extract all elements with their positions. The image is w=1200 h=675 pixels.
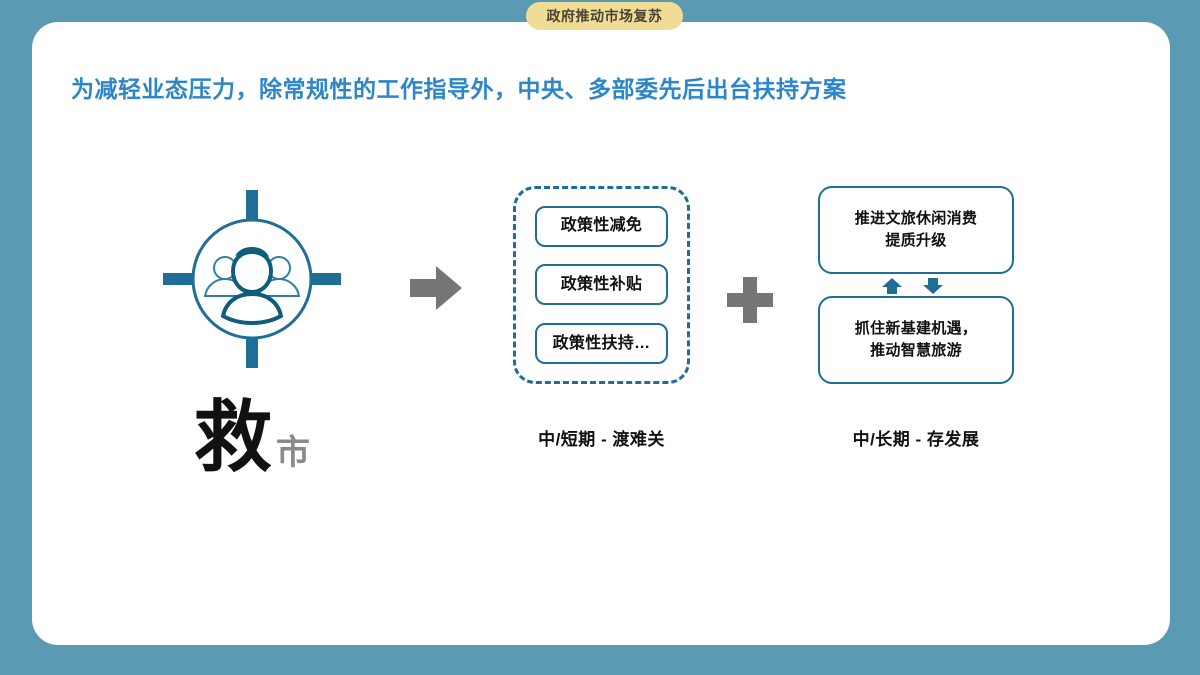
longterm-box-2-line2: 推动智慧旅游 bbox=[870, 340, 962, 363]
longterm-box-2[interactable]: 抓住新基建机遇， 推动智慧旅游 bbox=[818, 296, 1014, 384]
keyword-block: 救 市 bbox=[163, 378, 341, 474]
up-down-arrows-icon bbox=[880, 276, 952, 296]
policy-box-1[interactable]: 政策性减免 bbox=[535, 206, 668, 247]
midterm-caption: 中/短期 - 渡难关 bbox=[513, 425, 690, 450]
longterm-box-2-line1: 抓住新基建机遇， bbox=[855, 318, 977, 341]
midterm-policy-group: 政策性减免 政策性补贴 政策性扶持… bbox=[513, 186, 690, 384]
up-down-arrows-svg bbox=[880, 276, 952, 296]
longterm-caption: 中/长期 - 存发展 bbox=[818, 425, 1014, 450]
policy-box-2[interactable]: 政策性补贴 bbox=[535, 264, 668, 305]
right-arrow-svg bbox=[406, 258, 466, 318]
longterm-group: 推进文旅休闲消费 提质升级 抓住新基建机遇， 推动智慧旅游 bbox=[818, 186, 1014, 384]
target-people-svg bbox=[163, 190, 341, 368]
page-title: 为减轻业态压力，除常规性的工作指导外，中央、多部委先后出台扶持方案 bbox=[71, 70, 847, 104]
right-arrow-icon bbox=[406, 258, 466, 318]
section-banner-label: 政府推动市场复苏 bbox=[547, 9, 663, 23]
longterm-box-1-line2: 提质升级 bbox=[885, 230, 946, 253]
longterm-box-1[interactable]: 推进文旅休闲消费 提质升级 bbox=[818, 186, 1014, 274]
policy-box-1-label: 政策性减免 bbox=[561, 218, 643, 234]
plus-icon bbox=[727, 277, 773, 323]
keyword-primary: 救 bbox=[194, 400, 272, 474]
policy-box-2-label: 政策性补贴 bbox=[561, 277, 643, 293]
policy-box-3-label: 政策性扶持… bbox=[553, 336, 651, 352]
target-people-icon bbox=[163, 190, 341, 368]
longterm-box-1-line1: 推进文旅休闲消费 bbox=[855, 208, 977, 231]
keyword-secondary: 市 bbox=[276, 436, 310, 470]
up-arrow-icon bbox=[882, 278, 902, 294]
down-arrow-icon bbox=[923, 278, 943, 294]
section-banner: 政府推动市场复苏 bbox=[526, 2, 683, 30]
policy-box-3[interactable]: 政策性扶持… bbox=[535, 323, 668, 364]
